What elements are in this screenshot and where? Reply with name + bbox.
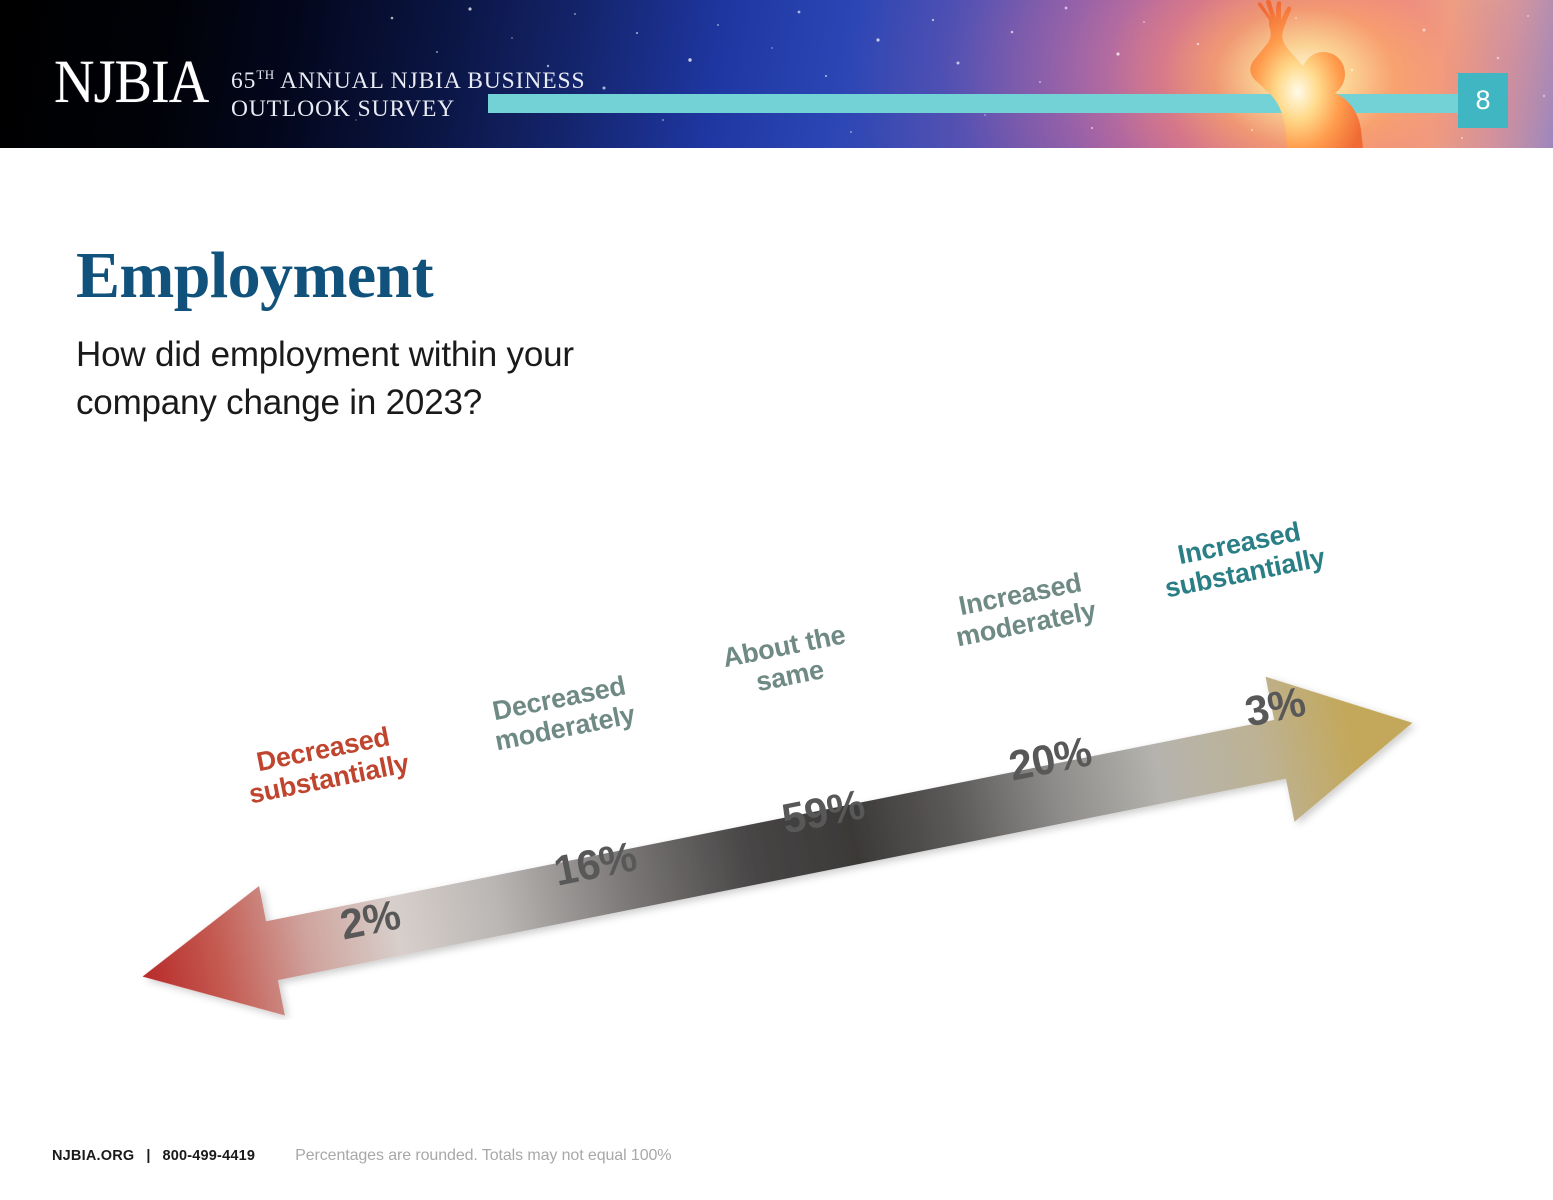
page-number-badge: 8 bbox=[1458, 73, 1508, 128]
survey-title: 65TH ANNUAL NJBIA BUSINESS OUTLOOK SURVE… bbox=[231, 61, 585, 123]
slide-header: NJBIA 65TH ANNUAL NJBIA BUSINESS OUTLOOK… bbox=[0, 0, 1553, 148]
survey-title-rest: ANNUAL NJBIA BUSINESS OUTLOOK SURVEY bbox=[231, 68, 585, 122]
slide-footer: NJBIA.ORG | 800-499-4419 Percentages are… bbox=[52, 1147, 671, 1165]
slide: NJBIA 65TH ANNUAL NJBIA BUSINESS OUTLOOK… bbox=[0, 0, 1553, 1200]
page-title: Employment bbox=[76, 243, 836, 309]
page-subtitle: How did employment within your company c… bbox=[76, 331, 676, 428]
njbia-logo: NJBIA bbox=[54, 52, 208, 113]
footer-note: Percentages are rounded. Totals may not … bbox=[295, 1147, 671, 1165]
footer-website[interactable]: NJBIA.ORG bbox=[52, 1148, 134, 1164]
survey-title-number: 65 bbox=[231, 68, 256, 94]
employment-arrow-chart: Decreased substantially Decreased modera… bbox=[0, 500, 1553, 1020]
footer-separator: | bbox=[134, 1148, 162, 1164]
page-number: 8 bbox=[1475, 85, 1490, 116]
title-block: Employment How did employment within you… bbox=[76, 243, 836, 428]
survey-title-ordinal: TH bbox=[256, 67, 274, 82]
person-silhouette-icon bbox=[1215, 0, 1405, 148]
footer-phone[interactable]: 800-499-4419 bbox=[162, 1148, 255, 1164]
